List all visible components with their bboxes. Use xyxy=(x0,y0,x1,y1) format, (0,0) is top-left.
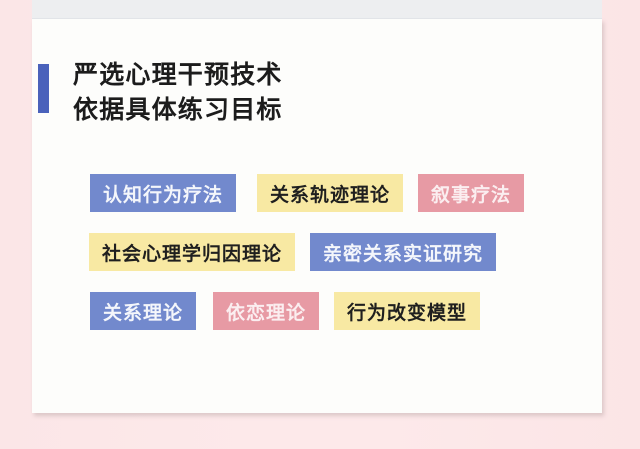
title-block: 严选心理干预技术 依据具体练习目标 xyxy=(38,59,283,126)
title-lines: 严选心理干预技术 依据具体练习目标 xyxy=(73,59,283,126)
tag-row: 关系理论 依恋理论 行为改变模型 xyxy=(32,292,602,330)
tag-item[interactable]: 亲密关系实证研究 xyxy=(310,233,496,271)
title-accent-bar xyxy=(38,64,49,113)
top-strip xyxy=(32,0,602,19)
tag-row: 社会心理学归因理论 亲密关系实证研究 xyxy=(32,233,602,271)
tag-list: 认知行为疗法 关系轨迹理论 叙事疗法 社会心理学归因理论 亲密关系实证研究 关系… xyxy=(32,174,602,330)
tag-item[interactable]: 叙事疗法 xyxy=(418,174,524,212)
tag-item[interactable]: 社会心理学归因理论 xyxy=(89,233,295,271)
title-line-2: 依据具体练习目标 xyxy=(73,94,283,126)
tag-item[interactable]: 关系理论 xyxy=(90,292,196,330)
top-strip-divider xyxy=(32,18,602,19)
title-line-1: 严选心理干预技术 xyxy=(73,59,283,91)
content-card: 严选心理干预技术 依据具体练习目标 认知行为疗法 关系轨迹理论 叙事疗法 社会心… xyxy=(32,19,602,413)
tag-item[interactable]: 认知行为疗法 xyxy=(90,174,236,212)
tag-item[interactable]: 依恋理论 xyxy=(213,292,319,330)
tag-item[interactable]: 关系轨迹理论 xyxy=(257,174,403,212)
tag-row: 认知行为疗法 关系轨迹理论 叙事疗法 xyxy=(32,174,602,212)
slide-root: 严选心理干预技术 依据具体练习目标 认知行为疗法 关系轨迹理论 叙事疗法 社会心… xyxy=(0,0,640,449)
tag-item[interactable]: 行为改变模型 xyxy=(334,292,480,330)
